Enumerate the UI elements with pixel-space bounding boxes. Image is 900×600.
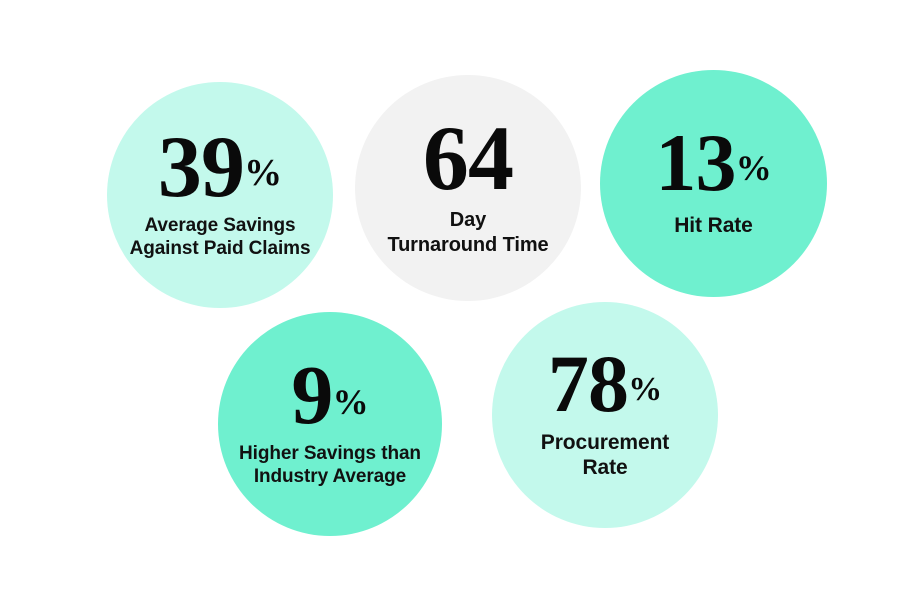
- stat-circle-avg-savings: 39 % Average Savings Against Paid Claims: [107, 82, 333, 308]
- stat-label: Hit Rate: [674, 213, 753, 239]
- stat-circle-hit-rate: 13 % Hit Rate: [600, 70, 827, 297]
- stat-value-row: 13 %: [655, 128, 771, 199]
- stat-value-row: 39 %: [158, 130, 282, 206]
- stat-label: Higher Savings than Industry Average: [239, 442, 421, 488]
- stat-number: 78: [548, 349, 628, 420]
- stat-value-row: 78 %: [548, 349, 662, 420]
- stat-circle-higher-savings: 9 % Higher Savings than Industry Average: [218, 312, 442, 536]
- stat-number: 9: [291, 360, 332, 432]
- stat-number: 39: [158, 130, 244, 206]
- percent-symbol: %: [333, 360, 369, 420]
- stat-number: 13: [655, 128, 735, 199]
- stat-label: Procurement Rate: [541, 430, 669, 481]
- stat-label: Average Savings Against Paid Claims: [130, 214, 311, 260]
- stats-infographic: 39 % Average Savings Against Paid Claims…: [0, 0, 900, 600]
- stat-value-row: 64: [423, 119, 513, 198]
- percent-symbol: %: [244, 130, 282, 192]
- percent-symbol: %: [628, 349, 662, 407]
- stat-number: 64: [423, 119, 513, 198]
- percent-symbol: %: [736, 128, 772, 186]
- stat-circle-turnaround: 64 Day Turnaround Time: [355, 75, 581, 301]
- stat-value-row: 9 %: [291, 360, 368, 432]
- stat-label: Day Turnaround Time: [387, 208, 548, 257]
- stat-circle-procurement: 78 % Procurement Rate: [492, 302, 718, 528]
